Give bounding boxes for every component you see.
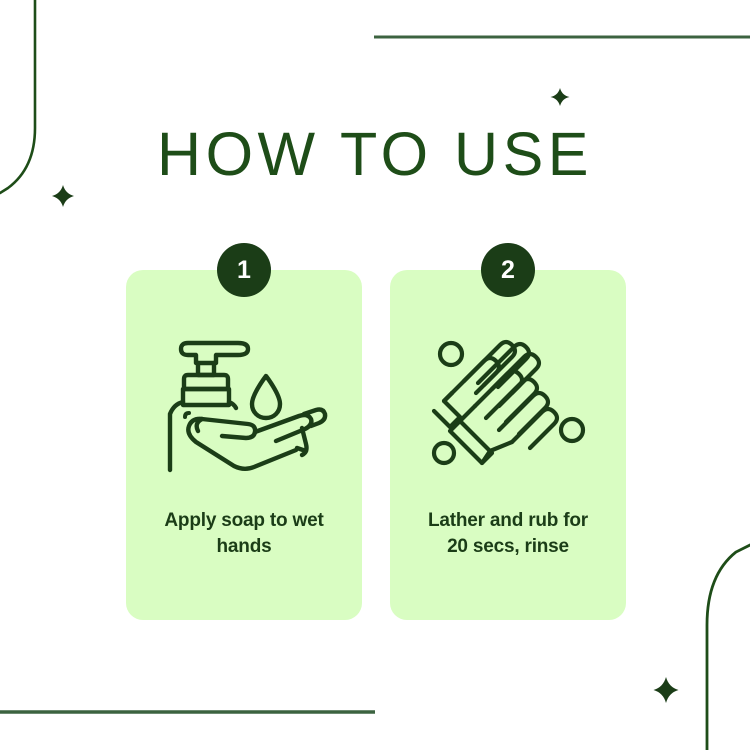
step-card-1[interactable]: 1 bbox=[126, 270, 362, 620]
page-title: HOW TO USE bbox=[0, 124, 750, 185]
rubbing-hands-bubbles-icon bbox=[420, 330, 596, 476]
step-caption-1-line1: Apply soap to wet bbox=[140, 508, 348, 534]
step-number-badge-2: 2 bbox=[481, 243, 535, 297]
step-caption-1: Apply soap to wet hands bbox=[140, 508, 348, 560]
step-number-badge-1: 1 bbox=[217, 243, 271, 297]
step-caption-2-line2: 20 secs, rinse bbox=[404, 534, 612, 560]
sparkle-bottom-right-icon bbox=[654, 677, 679, 703]
soap-dispenser-hand-icon bbox=[156, 330, 332, 476]
step-caption-2-line1: Lather and rub for bbox=[404, 508, 612, 534]
sparkle-top-right-icon bbox=[551, 88, 570, 106]
steps-container: 1 bbox=[126, 270, 626, 620]
step-caption-1-line2: hands bbox=[140, 534, 348, 560]
how-to-use-poster: HOW TO USE 1 bbox=[0, 0, 750, 750]
step-card-2[interactable]: 2 bbox=[390, 270, 626, 620]
step-caption-2: Lather and rub for 20 secs, rinse bbox=[404, 508, 612, 560]
curved-line-bottom-right-icon bbox=[707, 545, 750, 750]
sparkle-top-left-icon bbox=[52, 185, 74, 207]
